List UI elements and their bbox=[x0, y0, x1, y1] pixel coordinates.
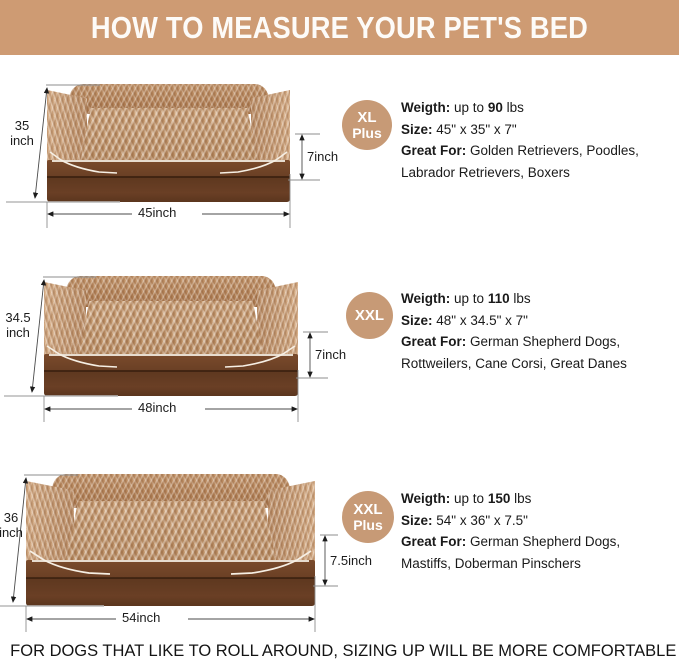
badge-line-2: Plus bbox=[353, 518, 383, 532]
great-for-label: Great For: bbox=[401, 534, 466, 549]
weight-value: 110 bbox=[488, 291, 510, 306]
width-dimension-label: 45inch bbox=[138, 205, 176, 220]
weight-line: Weigth: up to 150 lbs bbox=[401, 488, 620, 510]
spec-text-xxl: Weigth: up to 110 lbs Size: 48" x 34.5" … bbox=[401, 288, 627, 374]
badge-line-1: XXL bbox=[355, 308, 384, 323]
depth-dimension-label: 34.5 inch bbox=[0, 310, 46, 341]
size-label: Size: bbox=[401, 513, 433, 528]
pet-bed-size-chart: HOW TO MEASURE YOUR PET'S BED bbox=[0, 0, 679, 668]
size-badge-xxl-plus: XXL Plus bbox=[342, 491, 394, 543]
weight-unit: lbs bbox=[513, 291, 530, 306]
depth-unit: inch bbox=[0, 133, 48, 148]
size-badge-xxl: XXL bbox=[346, 292, 393, 339]
weight-prefix: up to bbox=[454, 291, 484, 306]
height-dimension-label: 7inch bbox=[307, 149, 338, 164]
size-value: 45" x 35" x 7" bbox=[436, 122, 516, 137]
depth-unit: inch bbox=[0, 525, 36, 540]
weight-label: Weigth: bbox=[401, 100, 450, 115]
bed-figure-xxl: 34.5 inch 48inch 7inch bbox=[0, 262, 335, 427]
badge-line-1: XXL bbox=[353, 502, 382, 517]
great-for-label: Great For: bbox=[401, 143, 466, 158]
size-value: 54" x 36" x 7.5" bbox=[436, 513, 528, 528]
depth-value: 36 bbox=[0, 510, 36, 525]
dimension-lines-xxl-plus bbox=[0, 458, 340, 638]
badge-line-1: XL bbox=[357, 110, 376, 125]
height-dimension-label: 7.5inch bbox=[330, 553, 372, 568]
depth-unit: inch bbox=[0, 325, 46, 340]
weight-line: Weigth: up to 110 lbs bbox=[401, 288, 627, 310]
footer-note: FOR DOGS THAT LIKE TO ROLL AROUND, SIZIN… bbox=[10, 641, 669, 661]
page-title: HOW TO MEASURE YOUR PET'S BED bbox=[91, 10, 588, 46]
size-line: Size: 48" x 34.5" x 7" bbox=[401, 310, 627, 332]
size-line: Size: 54" x 36" x 7.5" bbox=[401, 510, 620, 532]
weight-label: Weigth: bbox=[401, 291, 450, 306]
header-banner: HOW TO MEASURE YOUR PET'S BED bbox=[0, 0, 679, 55]
product-row-xl-plus: 35 inch 45inch 7inch XL Plus Weigth: up … bbox=[0, 62, 679, 232]
weight-line: Weigth: up to 90 lbs bbox=[401, 97, 639, 119]
great-for-line-1: Great For: German Shepherd Dogs, bbox=[401, 331, 627, 353]
weight-prefix: up to bbox=[454, 491, 484, 506]
size-badge-xl-plus: XL Plus bbox=[342, 100, 392, 150]
weight-unit: lbs bbox=[507, 100, 524, 115]
great-for-value-1: Golden Retrievers, Poodles, bbox=[470, 143, 639, 158]
depth-dimension-label: 35 inch bbox=[0, 118, 48, 149]
size-label: Size: bbox=[401, 122, 433, 137]
badge-line-2: Plus bbox=[352, 126, 382, 140]
great-for-line-1: Great For: German Shepherd Dogs, bbox=[401, 531, 620, 553]
great-for-line-2: Labrador Retrievers, Boxers bbox=[401, 162, 639, 184]
width-dimension-label: 54inch bbox=[122, 610, 160, 625]
bed-figure-xl-plus: 35 inch 45inch 7inch bbox=[0, 62, 335, 232]
depth-value: 35 bbox=[0, 118, 48, 133]
height-dimension-label: 7inch bbox=[315, 347, 346, 362]
depth-dimension-label: 36 inch bbox=[0, 510, 36, 541]
great-for-value-1: German Shepherd Dogs, bbox=[470, 334, 620, 349]
weight-prefix: up to bbox=[454, 100, 484, 115]
weight-value: 150 bbox=[488, 491, 511, 506]
great-for-label: Great For: bbox=[401, 334, 466, 349]
great-for-line-2: Mastiffs, Doberman Pinschers bbox=[401, 553, 620, 575]
product-row-xxl: 34.5 inch 48inch 7inch XXL Weigth: up to… bbox=[0, 262, 679, 427]
weight-value: 90 bbox=[488, 100, 503, 115]
weight-label: Weigth: bbox=[401, 491, 450, 506]
spec-text-xxl-plus: Weigth: up to 150 lbs Size: 54" x 36" x … bbox=[401, 488, 620, 574]
size-value: 48" x 34.5" x 7" bbox=[436, 313, 528, 328]
size-line: Size: 45" x 35" x 7" bbox=[401, 119, 639, 141]
great-for-line-2: Rottweilers, Cane Corsi, Great Danes bbox=[401, 353, 627, 375]
spec-text-xl-plus: Weigth: up to 90 lbs Size: 45" x 35" x 7… bbox=[401, 97, 639, 183]
depth-value: 34.5 bbox=[0, 310, 46, 325]
bed-figure-xxl-plus: 36 inch 54inch 7.5inch bbox=[0, 458, 340, 638]
size-label: Size: bbox=[401, 313, 433, 328]
weight-unit: lbs bbox=[514, 491, 531, 506]
product-row-xxl-plus: 36 inch 54inch 7.5inch XXL Plus Weigth: … bbox=[0, 458, 679, 638]
width-dimension-label: 48inch bbox=[138, 400, 176, 415]
great-for-value-1: German Shepherd Dogs, bbox=[470, 534, 620, 549]
great-for-line-1: Great For: Golden Retrievers, Poodles, bbox=[401, 140, 639, 162]
